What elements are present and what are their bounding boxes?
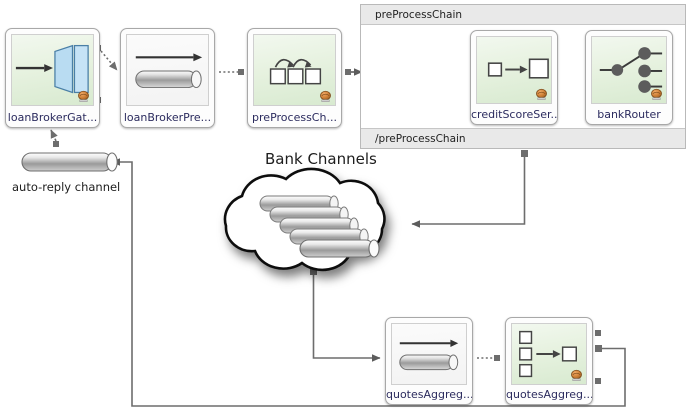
auto-reply-channel-label: auto-reply channel: [12, 180, 120, 194]
port-agg-top: [595, 330, 601, 336]
diagram-canvas: preProcessChain /preProcessChain loanBro…: [0, 0, 688, 419]
connector-group-to-cloud: [412, 150, 528, 224]
node-icon-area: [476, 36, 552, 104]
node-preprocesschain[interactable]: preProcessCh...: [247, 28, 342, 128]
java-bean-icon: [650, 88, 663, 101]
connector-aggchan-to-agg: [477, 355, 500, 361]
port-agg-bottom: [595, 378, 601, 384]
node-label: preProcessCh...: [248, 111, 341, 124]
node-icon-area: [391, 323, 467, 385]
node-label: quotesAggreg...: [386, 388, 472, 401]
connector-pre-to-chain: [219, 69, 244, 75]
node-loanbrokerpre[interactable]: loanBrokerPre...: [120, 28, 215, 128]
auto-reply-channel-shape[interactable]: [22, 153, 117, 171]
node-icon-area: [511, 323, 587, 385]
connector-autoreply-to-gateway: [51, 130, 59, 147]
channel-pipe-icon: [392, 324, 466, 384]
connector-cloud-to-aggregator-channel: [310, 268, 380, 358]
group-footer-label: /preProcessChain: [361, 128, 685, 148]
node-loanbrokergateway[interactable]: loanBrokerGat...: [5, 28, 100, 128]
node-creditscoreservice[interactable]: creditScoreSer...: [470, 30, 558, 125]
bank-channels-title: Bank Channels: [265, 150, 377, 168]
java-bean-icon: [570, 369, 583, 382]
java-bean-icon: [77, 90, 90, 103]
node-label: creditScoreSer...: [471, 108, 557, 121]
channel-pipe-icon: [127, 35, 208, 105]
node-icon-area: [11, 34, 94, 106]
node-icon-area: [126, 34, 209, 106]
node-icon-area: [591, 36, 667, 104]
group-header-label: preProcessChain: [361, 5, 685, 25]
node-label: bankRouter: [586, 108, 672, 121]
java-bean-icon: [319, 90, 332, 103]
port-agg-mid: [595, 345, 602, 352]
node-quotesaggregator[interactable]: quotesAggreg...: [505, 317, 593, 405]
node-label: loanBrokerGat...: [6, 111, 99, 124]
node-bankrouter[interactable]: bankRouter: [585, 30, 673, 125]
node-icon-area: [253, 34, 336, 106]
node-quotesaggregator-channel[interactable]: quotesAggreg...: [385, 317, 473, 405]
node-label: quotesAggreg...: [506, 388, 592, 401]
java-bean-icon: [535, 88, 548, 101]
node-label: loanBrokerPre...: [121, 111, 214, 124]
